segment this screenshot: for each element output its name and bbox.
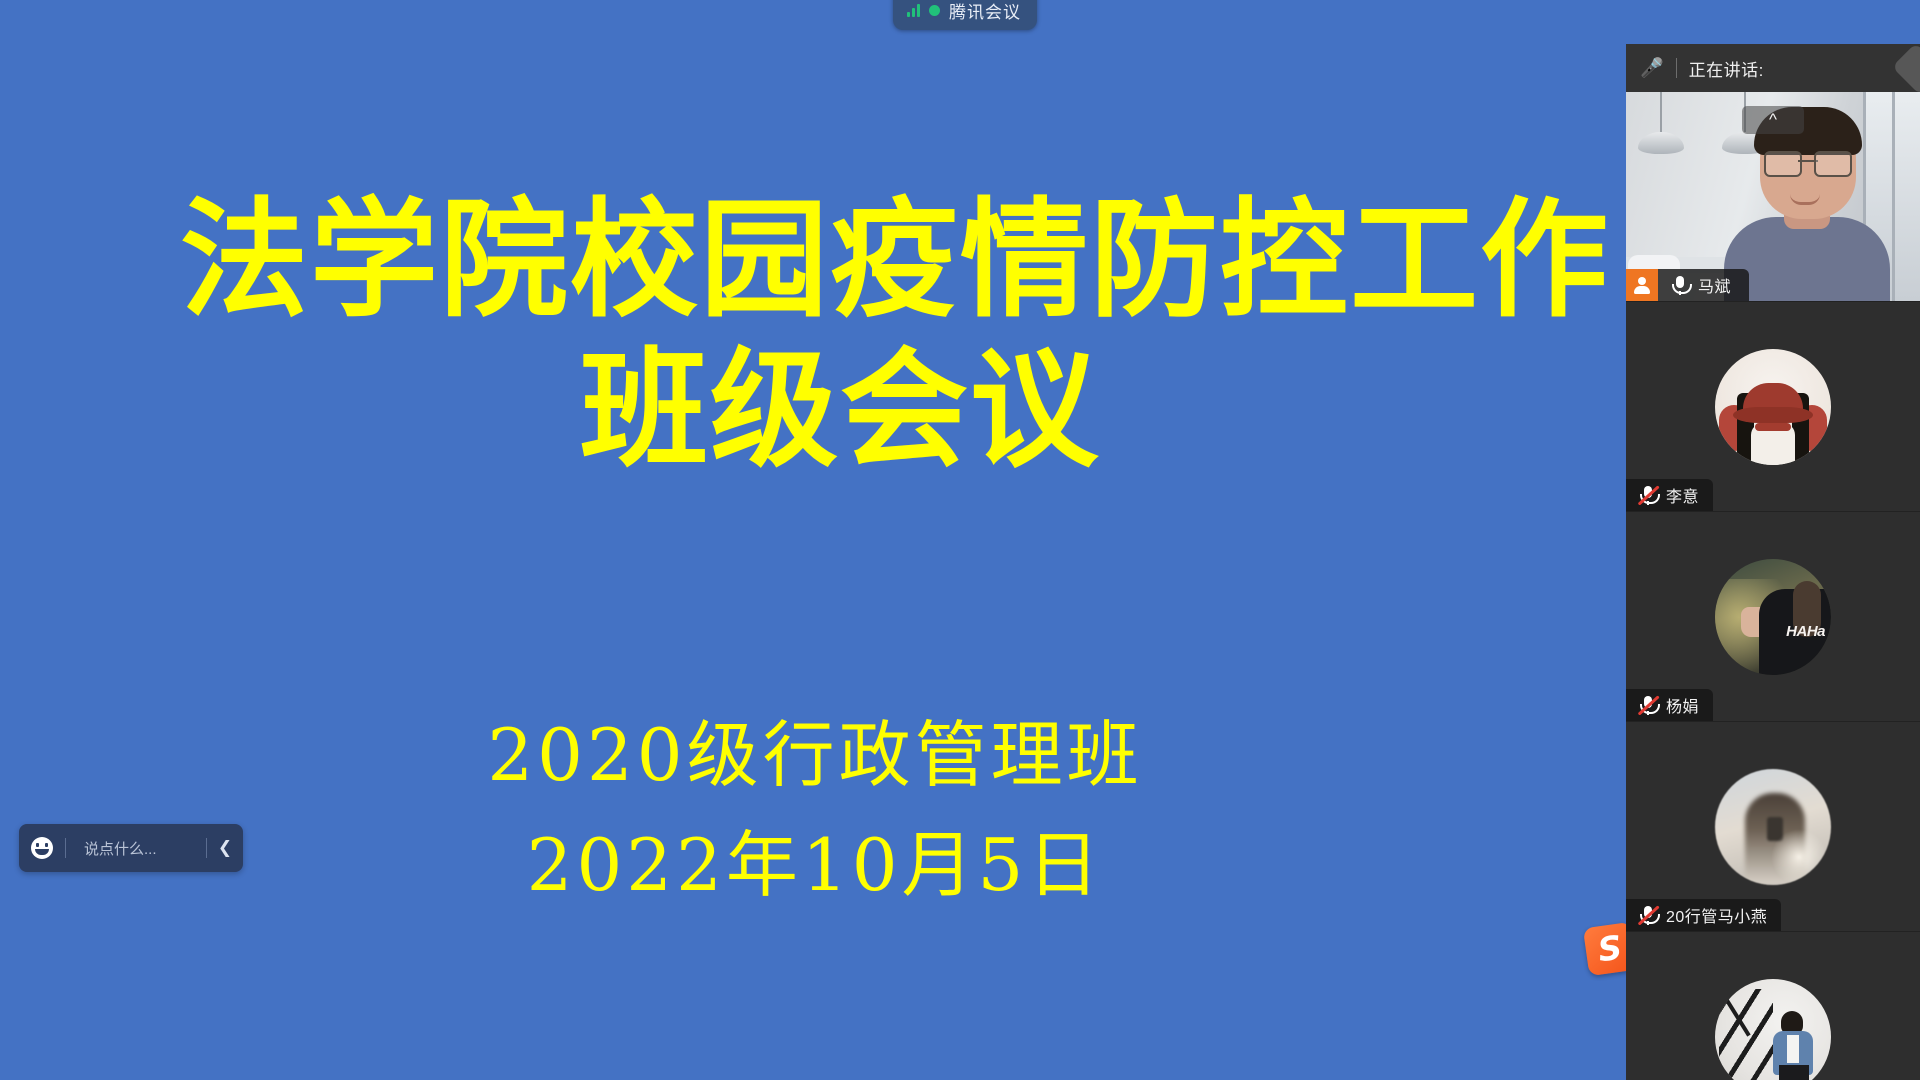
slide-subtitle: 2020级行政管理班 2022年10月5日 bbox=[0, 700, 1630, 920]
participant-tile-2[interactable]: HAHa 杨娟 bbox=[1626, 512, 1920, 722]
person-badge-icon bbox=[1626, 269, 1658, 301]
meeting-screen: 法学院校园疫情防控工作 班级会议 2020级行政管理班 2022年10月5日 腾… bbox=[0, 0, 1920, 1080]
speaking-header: 🎤 正在讲话: bbox=[1626, 44, 1920, 92]
participant-name-2: 杨娟 bbox=[1666, 693, 1699, 717]
signal-bars-icon bbox=[907, 4, 920, 17]
participant-name-1: 李意 bbox=[1666, 483, 1699, 507]
microphone-muted-icon bbox=[1636, 693, 1660, 717]
avatar bbox=[1715, 979, 1831, 1080]
avatar: HAHa bbox=[1715, 559, 1831, 675]
sogou-ime-letter: S bbox=[1596, 930, 1624, 966]
header-divider bbox=[1676, 58, 1677, 78]
microphone-icon bbox=[1668, 273, 1692, 297]
emoji-button[interactable] bbox=[19, 837, 65, 859]
participant-name-tag-0: 马斌 bbox=[1626, 269, 1749, 301]
participant-tile-0[interactable]: ^ 马斌 bbox=[1626, 92, 1920, 302]
green-recording-dot-icon bbox=[929, 5, 940, 16]
chat-input[interactable]: 说点什么... bbox=[66, 838, 206, 859]
microphone-muted-icon bbox=[1636, 903, 1660, 927]
slide-title-line-2: 班级会议 bbox=[0, 336, 1680, 486]
chat-bar[interactable]: 说点什么... ❮ bbox=[19, 824, 243, 872]
avatar bbox=[1715, 769, 1831, 885]
participant-name-tag-1: 李意 bbox=[1626, 479, 1713, 511]
smiley-face-icon bbox=[31, 837, 53, 859]
app-name-label: 腾讯会议 bbox=[949, 0, 1021, 23]
header-corner-shape bbox=[1892, 44, 1920, 92]
participant-name-0: 马斌 bbox=[1698, 273, 1731, 297]
app-title-pill[interactable]: 腾讯会议 bbox=[893, 0, 1037, 30]
participant-name-tag-3: 20行管马小燕 bbox=[1626, 899, 1781, 931]
microphone-icon: 🎤 bbox=[1640, 59, 1664, 78]
participant-tile-1[interactable]: 李意 bbox=[1626, 302, 1920, 512]
participant-name-3: 20行管马小燕 bbox=[1666, 903, 1767, 927]
microphone-muted-icon bbox=[1636, 483, 1660, 507]
participant-name-tag-2: 杨娟 bbox=[1626, 689, 1713, 721]
slide-subtitle-line-2: 2022年10月5日 bbox=[0, 810, 1630, 920]
slide-title: 法学院校园疫情防控工作 班级会议 bbox=[0, 186, 1680, 486]
avatar bbox=[1715, 349, 1831, 465]
slide-title-line-1: 法学院校园疫情防控工作 bbox=[180, 186, 1680, 336]
participant-sidebar: 🎤 正在讲话: bbox=[1626, 44, 1920, 1080]
speaking-label: 正在讲话: bbox=[1689, 56, 1764, 81]
slide-subtitle-line-1: 2020级行政管理班 bbox=[0, 700, 1630, 810]
participant-tile-3[interactable]: 20行管马小燕 bbox=[1626, 722, 1920, 932]
participant-tile-4[interactable] bbox=[1626, 932, 1920, 1080]
chevron-up-icon[interactable]: ^ bbox=[1742, 106, 1804, 134]
chevron-left-icon[interactable]: ❮ bbox=[207, 838, 243, 858]
